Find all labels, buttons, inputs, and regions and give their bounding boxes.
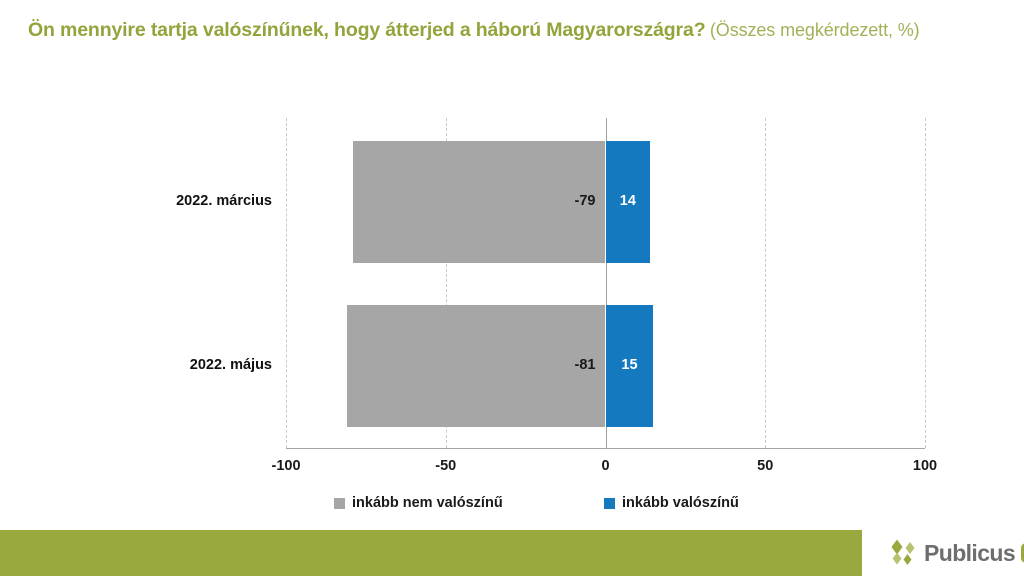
legend-swatch-icon (334, 498, 345, 509)
legend-label: inkább valószínű (622, 495, 739, 511)
bar-value-negative: -81 (544, 357, 596, 373)
x-tick-label: 100 (913, 458, 937, 474)
legend-item[interactable]: inkább valószínű (604, 495, 739, 511)
bar-value-negative: -79 (544, 193, 596, 209)
x-tick-label: -100 (271, 458, 300, 474)
bar-value-positive: 14 (606, 193, 651, 209)
bar-row: 2022. május-8115 (286, 305, 925, 427)
x-tick-label: -50 (435, 458, 456, 474)
bar-row: 2022. március-7914 (286, 141, 925, 263)
category-label: 2022. március (176, 193, 272, 209)
gridline-100 (925, 118, 926, 448)
logo-wordmark: Publicus (924, 540, 1015, 567)
category-label: 2022. május (190, 357, 272, 373)
bar-chart: -100-50050100 2022. március-79142022. má… (0, 0, 1024, 530)
x-axis-line (286, 448, 925, 449)
x-tick-label: 0 (601, 458, 609, 474)
bar-value-positive: 15 (606, 357, 654, 373)
footer-band (0, 530, 862, 576)
diamond-cluster-icon (888, 538, 918, 568)
footer: Publicus 15 (0, 530, 1024, 576)
legend-swatch-icon (604, 498, 615, 509)
legend-item[interactable]: inkább nem valószínű (334, 495, 503, 511)
plot-area: -100-50050100 2022. március-79142022. má… (286, 118, 925, 448)
x-tick-label: 50 (757, 458, 773, 474)
chart-legend: inkább nem valószínűinkább valószínű (286, 495, 925, 515)
legend-label: inkább nem valószínű (352, 495, 503, 511)
publicus-logo: Publicus 15 (888, 530, 1024, 576)
